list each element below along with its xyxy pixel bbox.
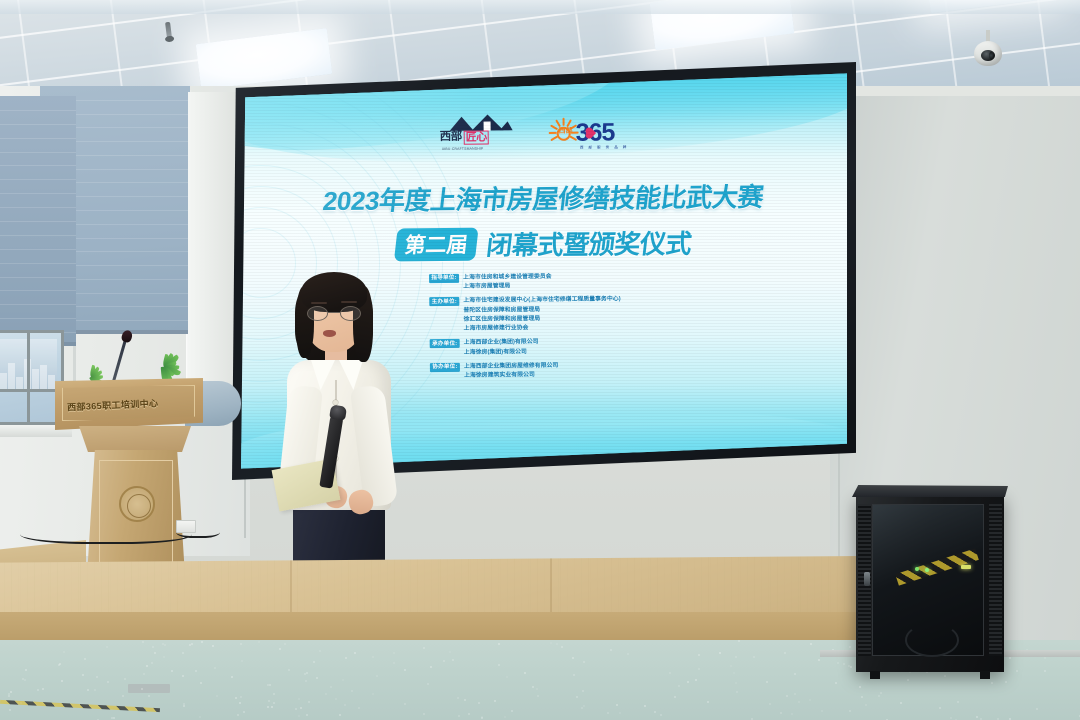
floor-speckle [235,697,237,699]
floor-speckle [695,679,697,681]
xibu-jiangxin-logo: 西部 匠心 XIBU·CRAFTSMANSHIP [439,113,523,154]
floor-speckle [443,660,445,662]
floor-speckle [458,715,460,717]
floor-speckle [561,646,563,648]
floor-speckle [146,665,148,667]
floor-speckle [214,667,216,669]
floor-speckle [794,673,796,675]
floor-speckle [423,647,425,649]
floor-speckle [957,701,959,703]
floor-speckle [273,702,275,704]
floor-cable-plate [128,684,170,693]
floor-speckle [837,662,839,664]
floor-speckle [687,681,689,683]
organizer-label: 协办单位: [430,362,460,371]
floor-speckle [627,653,629,655]
floor-speckle [216,695,218,697]
floor-speckle [199,716,201,718]
blind-fold [0,110,76,111]
floor-hazard-tape [0,700,160,712]
floor-speckle [1044,670,1046,672]
blind-fold [0,318,76,319]
floor-speckle [494,700,496,702]
floor-speckle [269,684,271,686]
floor-speckle [295,708,297,710]
rack-status-led-amber [961,565,971,569]
floor-speckle [809,699,811,701]
floor-speckle [298,715,300,717]
floor-speckle [821,710,823,712]
floor-speckle [243,711,245,713]
floor-speckle [240,696,242,698]
sun-ray [563,118,565,126]
floor-speckle [678,685,680,687]
floor-speckle [536,688,538,690]
logo-tagline: XIBU·CRAFTSMANSHIP [442,147,484,151]
organizer-name-line: 上海市住房和城乡建设管理委员会 [463,273,552,283]
floor-speckle [583,705,585,707]
floor-speckle [784,652,786,654]
glasses-lens-right [340,306,361,321]
floor-speckle [786,695,788,697]
floor-speckle [780,712,782,714]
floor-speckle [944,675,946,677]
floor-speckle [42,688,44,690]
rack-door-lock-icon[interactable] [864,572,870,586]
floor-speckle [354,652,356,654]
floor-speckle [241,660,243,662]
floor-speckle [861,696,863,698]
floor-speckle [766,681,768,683]
floor-speckle [300,707,302,709]
floor-speckle [907,679,909,681]
floor-speckle [843,663,845,665]
floor-speckle [164,644,166,646]
floor-speckle [335,698,337,700]
floor-speckle [698,668,700,670]
floor-speckle [339,714,341,716]
organizer-label: 主办单位: [429,297,459,306]
blind-fold [0,277,76,278]
floor-speckle [393,662,395,664]
presenter-eyebrow-right [341,301,357,303]
floor-speckle [532,686,534,688]
floor-speckle [1005,681,1007,683]
floor-speckle [87,689,89,691]
floor-speckle [644,705,646,707]
camera-lens [981,50,995,61]
floor-speckle [94,689,96,691]
floor-speckle [240,643,242,645]
floor-speckle [619,712,621,714]
roller-blind-side[interactable] [0,96,76,346]
floor-speckle [142,641,144,643]
window-mullion-vertical [27,333,30,422]
eyeglasses-icon [307,306,361,322]
floor-speckle [581,707,583,709]
floor-speckle [106,646,108,648]
blind-fold [0,179,76,180]
floor-speckle [582,690,584,692]
floor-speckle [279,648,281,650]
floor-speckle [427,683,429,685]
floor-speckle [201,641,203,643]
floor-speckle [1016,670,1018,672]
floor-speckle [154,652,156,654]
floor-speckle [674,696,676,698]
floor-speckle [319,650,321,652]
floor-speckle [452,659,454,661]
floor-speckle [950,717,952,719]
floor-speckle [859,686,861,688]
floor-speckle [37,689,39,691]
floor-speckle [239,702,241,704]
floor-speckle [183,705,185,707]
floor-speckle [372,693,374,695]
floor-speckle [316,677,318,679]
floor-speckle [163,656,165,658]
floor-speckle [325,693,327,695]
building-silhouette [0,373,7,389]
floor-cable-right [176,524,220,538]
floor-speckle [267,684,269,686]
floor-speckle [449,651,451,653]
floor-speckle [818,659,820,661]
floor-speckle [9,709,11,711]
floor-speckle [345,657,347,659]
floor-speckle [736,691,738,693]
xibu-365-logo: 西部 365 西 部 服 务 品 牌 [549,112,645,153]
floor-speckle [654,711,656,713]
floor-speckle [610,649,612,651]
heart-icon [586,128,596,138]
floor-speckle [271,706,273,708]
floor-speckle [308,701,310,703]
floor-speckle [939,707,941,709]
floor-speckle [358,707,360,709]
floor-speckle [572,657,574,659]
floor-speckle [791,713,793,715]
blind-fold [0,165,76,166]
sun-ray [550,125,558,131]
blind-fold [0,221,76,222]
blind-fold [0,207,76,208]
floor-speckle [719,652,721,654]
organizer-label: 承办单位: [430,339,460,348]
floor-speckle [511,710,513,712]
floor-speckle [25,669,27,671]
floor-speckle [865,704,867,706]
floor-speckle [707,701,709,703]
floor-speckle [96,676,98,678]
floor-speckle [1009,657,1011,659]
microphone-head [329,404,347,420]
floor-speckle [212,645,214,647]
building-silhouette [48,375,55,389]
floor-speckle [344,704,346,706]
floor-speckle [753,656,755,658]
podium-plant-right [150,344,194,384]
logo-number-365: 365 [576,120,615,145]
floor-speckle [304,673,306,675]
organizer-row: 指导单位:上海市住房和城乡建设管理委员会上海市房屋管理局 [429,270,805,292]
floor-speckle [404,703,406,705]
floor-speckle [267,706,269,708]
floor-speckle [498,664,500,666]
organizer-names: 上海西部企业集团房屋维修有限公司上海徐房建筑实业有限公司 [464,361,559,381]
floor-speckle [423,713,425,715]
floor-speckle [607,712,609,714]
floor-speckle [82,674,84,676]
glasses-lens-left [307,306,328,321]
dome-security-camera-icon [974,30,1002,68]
floor-speckle [61,680,63,682]
floor-speckle [880,692,882,694]
organizer-name-line: 上海市住宅建设发展中心(上海市住宅修缮工程质量事务中心) [463,296,620,307]
building-silhouette [32,369,39,389]
floor-speckle [151,662,153,664]
floor-cable [20,520,192,544]
floor-speckle [182,675,184,677]
building-silhouette [40,365,47,389]
floor-speckle [733,672,735,674]
floor-speckle [143,673,145,675]
organizer-row: 承办单位:上海西部企业(集团)有限公司上海徐房(集团)有限公司 [430,336,806,358]
slide-title-row2: 第二届 闭幕式暨颁奖仪式 [241,222,847,265]
organizer-name-line: 上海市房屋修建行业协会 [464,324,621,335]
floor-speckle [182,652,184,654]
blind-fold [0,263,76,264]
floor-speckle [900,702,902,704]
photo-scene: 西部 匠心 XIBU·CRAFTSMANSHIP 西部 365 西 部 服 务 … [0,0,1080,720]
presenter-eyebrow-left [311,302,327,304]
floor-speckle [404,669,406,671]
floor-speckle [849,710,851,712]
floor-speckle [306,672,308,674]
floor-speckle [738,640,740,642]
floor-speckle [537,695,539,697]
floor-speckle [794,693,796,695]
floor-speckle [306,714,308,716]
floor-speckle [63,651,65,653]
rack-cable-loop [905,623,959,657]
floor-speckle [730,665,732,667]
floor-speckle [498,643,500,645]
floor-speckle [152,646,154,648]
podium-column [87,450,185,576]
floor-speckle [573,674,575,676]
floor-speckle [583,661,585,663]
floor-speckle [268,700,270,702]
rack-side-vent-right [989,504,1002,656]
floor-speckle [464,699,466,701]
organizer-names: 上海西部企业(集团)有限公司上海徐房(集团)有限公司 [464,338,539,357]
blind-fold [0,152,76,153]
floor-speckle [284,643,286,645]
slide-title-line2: 闭幕式暨颁奖仪式 [485,224,694,263]
floor-speckle [457,697,459,699]
organizer-list: 指导单位:上海市住房和城乡建设管理委员会上海市房屋管理局主办单位:上海市住宅建设… [429,270,806,386]
organizer-names: 上海市住房和城乡建设管理委员会上海市房屋管理局 [463,273,552,293]
blind-fold [0,235,76,236]
floor-speckle [305,680,307,682]
rack-top-panel [852,485,1008,497]
podium-plant-left [87,366,113,382]
floor-speckle [237,714,239,716]
floor-speckle [556,643,558,645]
floor-speckle [10,691,12,693]
floor-speckle [991,682,993,684]
floor-speckle [171,670,173,672]
floor-speckle [698,654,700,656]
floor-speckle [616,704,618,706]
floor-speckle [976,716,978,718]
floor-speckle [1036,708,1038,710]
floor-speckle [478,702,480,704]
floor-speckle [122,695,124,697]
floor-speckle [468,713,470,715]
sun-icon: 西部 [550,119,578,147]
network-equipment-rack[interactable] [856,494,1004,672]
ceiling-perimeter-strip [0,0,1080,14]
floor-speckle [124,678,126,680]
organizer-name-line: 上海西部企业(集团)有限公司 [464,338,539,348]
floor-speckle [430,666,432,668]
floor-speckle [195,670,197,672]
organizer-name-line: 上海徐房建筑实业有限公司 [464,371,558,381]
floor-speckle [58,664,60,666]
podium-emblem [119,486,155,522]
rack-status-led-green [925,568,929,572]
floor-speckle [504,716,506,718]
podium-neck [79,426,191,452]
floor-speckle [798,701,800,703]
organizer-names: 上海市住宅建设发展中心(上海市住宅修缮工程质量事务中心)普陀区住房保障和房屋管理… [463,296,621,335]
floor-speckle [113,717,115,719]
floor-speckle [376,675,378,677]
floor-speckle [393,652,395,654]
floor-speckle [660,714,662,716]
organizer-name-line: 上海徐房(集团)有限公司 [464,348,539,358]
floor-speckle [313,661,315,663]
blind-fold [0,249,76,250]
presenter-mouth [323,330,336,337]
floor-speckle [351,690,353,692]
organizer-label: 指导单位: [429,274,459,283]
floor-speckle [878,695,880,697]
blind-fold [0,290,76,291]
rack-foot [870,671,880,679]
floor-speckle [288,669,290,671]
organizer-name-line: 上海西部企业集团房屋维修有限公司 [464,361,558,371]
floor-speckle [372,656,374,658]
floor-speckle [506,676,508,678]
floor-speckle [24,679,26,681]
floor-speckle [810,643,812,645]
floor-speckle [191,643,193,645]
floor-speckle [189,644,191,646]
sun-ray [549,132,557,134]
floor-speckle [258,641,260,643]
floor-speckle [735,682,737,684]
blind-fold [0,304,76,305]
organizer-name-line: 上海市房屋管理局 [463,282,552,292]
floor-speckle [84,658,86,660]
floor-speckle [231,676,233,678]
logo-text-jiangxin: 匠心 [464,130,489,144]
floor-speckle [751,718,753,720]
blind-fold [0,124,76,125]
xibu-jiangxin-wordmark: 西部 匠心 [440,127,524,148]
sun-ray [550,136,558,142]
floor-speckle [850,666,852,668]
floor-speckle [200,682,202,684]
floor-speckle [576,696,578,698]
slide-title-line1: 2023年度上海市房屋修缮技能比武大赛 [241,176,847,219]
logo-365-tagline: 西 部 服 务 品 牌 [580,145,629,150]
glasses-bridge [328,312,340,313]
rack-status-led-green [915,567,919,571]
floor-speckle [849,646,851,648]
floor-speckle [550,642,552,644]
floor-speckle [148,695,150,697]
blind-fold [0,138,76,139]
rack-glass-door[interactable] [872,504,984,656]
floor-speckle [769,703,771,705]
building-silhouette [16,377,23,389]
floor-speckle [669,672,671,674]
organizer-row: 主办单位:上海市住宅建设发展中心(上海市住宅修缮工程质量事务中心)普陀区住房保障… [429,294,805,335]
floor-speckle [162,643,164,645]
organizer-row: 协办单位:上海西部企业集团房屋维修有限公司上海徐房建筑实业有限公司 [430,359,806,381]
edition-badge: 第二届 [394,228,479,262]
slide-logo-row: 西部 匠心 XIBU·CRAFTSMANSHIP 西部 365 西 部 服 务 … [241,110,846,156]
floor-speckle [298,698,300,700]
floor-speckle [735,656,737,658]
window-mullion-horizontal [0,389,61,392]
floor-speckle [107,681,109,683]
floor-speckle [8,695,10,697]
sun-ray [555,119,561,127]
floor-speckle [342,679,344,681]
floor-speckle [835,682,837,684]
building-silhouette [8,363,15,389]
rack-foot [980,671,990,679]
floor-speckle [1044,657,1046,659]
floor-speckle [273,693,275,695]
blind-fold [0,193,76,194]
logo-text-xibu: 西部 [440,132,462,144]
floor-speckle [330,686,332,688]
floor-speckle [524,672,526,674]
